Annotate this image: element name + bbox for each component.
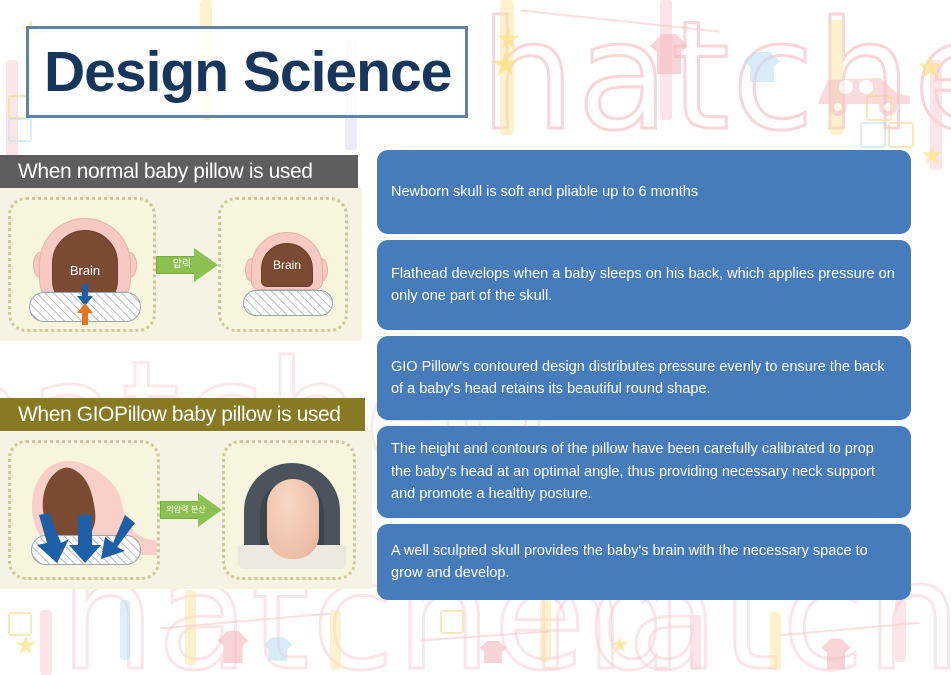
panel-gio-header-label: When GIOPillow baby pillow is used xyxy=(18,403,341,427)
arrows-pressure-distributed xyxy=(31,513,143,565)
block-icon xyxy=(866,95,892,121)
decor-bar xyxy=(40,610,52,675)
shirt-icon xyxy=(262,634,294,664)
page-title-box: Design Science xyxy=(26,26,468,118)
info-box: Newborn skull is soft and pliable up to … xyxy=(377,150,911,234)
info-box-text: GIO Pillow's contoured design distribute… xyxy=(391,356,897,401)
arrow-pressure-label: 외압력 분산 xyxy=(164,502,208,518)
info-box: A well sculpted skull provides the baby'… xyxy=(377,524,911,600)
panel-normal-body: Brain 압력 Brain xyxy=(0,188,362,341)
panel-normal-header-label: When normal baby pillow is used xyxy=(18,160,313,184)
decor-bar xyxy=(770,612,781,670)
dress-icon xyxy=(216,626,250,668)
shirt-icon xyxy=(742,48,782,86)
star-icon: ★ xyxy=(610,632,630,658)
photo-baby-on-gio-pillow xyxy=(238,457,346,569)
page-title: Design Science xyxy=(29,44,451,101)
block-icon xyxy=(8,118,32,142)
info-box-text: The height and contours of the pillow ha… xyxy=(391,438,897,505)
card-gio-after xyxy=(222,440,356,580)
arrow-pressure-label: 압력 xyxy=(160,257,204,273)
arrow-pressure-normal: 압력 xyxy=(156,248,218,282)
panel-normal-header: When normal baby pillow is used xyxy=(0,155,358,188)
decor-bar xyxy=(120,600,130,660)
brain-flat: Brain xyxy=(261,243,313,287)
info-box: The height and contours of the pillow ha… xyxy=(377,426,911,518)
car-icon xyxy=(810,60,920,118)
dress-icon xyxy=(820,634,852,674)
star-icon: ★ xyxy=(490,45,520,85)
panel-normal-pillow: When normal baby pillow is used Brain xyxy=(0,155,362,341)
shirt-icon xyxy=(478,638,508,666)
arrow-pressure-gio: 외압력 분산 xyxy=(160,493,222,527)
block-icon xyxy=(440,610,464,634)
pillow-hatched xyxy=(243,290,333,316)
info-box-list: Newborn skull is soft and pliable up to … xyxy=(377,150,911,606)
info-box-text: Newborn skull is soft and pliable up to … xyxy=(391,181,698,203)
card-normal-before: Brain xyxy=(8,197,156,332)
baby-head-photo xyxy=(267,479,319,559)
panel-gio-body: 외압력 분산 xyxy=(0,431,372,589)
arrow-up-orange-icon xyxy=(77,303,93,325)
block-icon xyxy=(8,612,32,636)
info-box: GIO Pillow's contoured design distribute… xyxy=(377,336,911,420)
panel-gio-header: When GIOPillow baby pillow is used xyxy=(0,398,365,431)
brain-label: Brain xyxy=(70,263,100,278)
decor-bar xyxy=(185,590,196,665)
decor-bar xyxy=(895,600,906,662)
block-icon xyxy=(888,122,914,148)
brain-label: Brain xyxy=(273,258,301,272)
info-box-text: A well sculpted skull provides the baby'… xyxy=(391,540,897,585)
block-icon xyxy=(860,122,886,148)
panel-gio-pillow: When GIOPillow baby pillow is used 외압력 분… xyxy=(0,398,372,589)
star-icon: ★ xyxy=(916,48,945,86)
dress-icon xyxy=(648,28,690,80)
info-box: Flathead develops when a baby sleeps on … xyxy=(377,240,911,330)
card-normal-after: Brain xyxy=(218,197,348,332)
card-gio-before xyxy=(8,440,160,580)
info-box-text: Flathead develops when a baby sleeps on … xyxy=(391,263,897,308)
decor-bar xyxy=(330,610,341,670)
star-icon: ★ xyxy=(920,140,943,171)
decor-bar xyxy=(690,615,701,670)
